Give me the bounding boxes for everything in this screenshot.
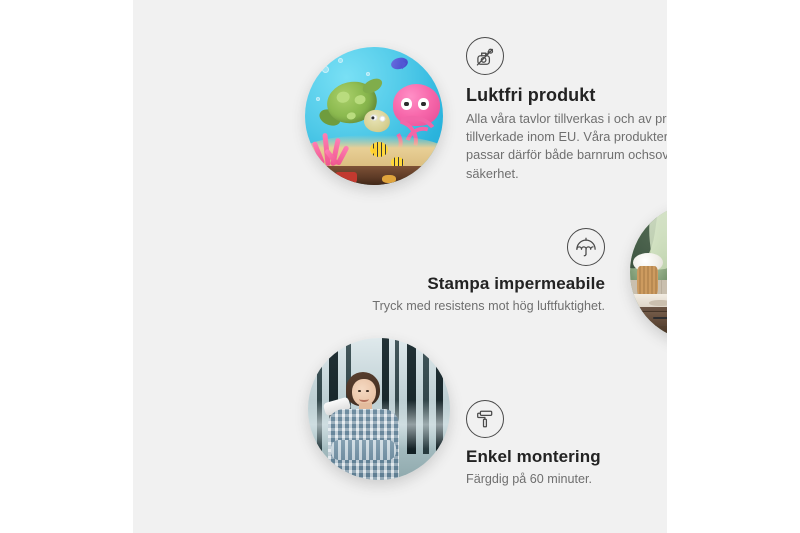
turtle-eye — [380, 118, 383, 121]
bubble-icon — [322, 66, 329, 73]
no-fragrance-spray-icon — [466, 37, 504, 75]
paint-roller-icon — [466, 400, 504, 438]
coral-reef — [313, 130, 352, 166]
product-feature-infographic: Luktfri produkt Alla våra tavlor tillver… — [0, 0, 800, 533]
feature-description: Alla våra tavlor tillverkas i och av pro… — [466, 110, 667, 184]
feature-title: Stampa impermeabile — [333, 273, 605, 294]
painter-scene — [308, 338, 450, 480]
feature-title: Luktfri produkt — [466, 84, 667, 107]
person-crossed-arms — [331, 440, 396, 460]
feature-description: Tryck med resistens mot hög luftfuktighe… — [333, 297, 605, 315]
image-bathroom-tropical-wallpaper — [630, 203, 667, 341]
image-painter-forest-wallpaper — [308, 338, 450, 480]
vanity-drawer — [636, 311, 667, 325]
umbrella-icon — [567, 228, 605, 266]
sea-bed-band — [305, 166, 443, 185]
bubble-icon — [316, 97, 320, 101]
person-eye — [358, 390, 361, 392]
person-smile — [359, 396, 369, 402]
turtle-eye — [372, 116, 375, 119]
ocean-scene — [305, 47, 443, 185]
image-ocean-kids-mural — [305, 47, 443, 185]
person-eye — [366, 390, 369, 392]
wooden-vanity-cabinet — [630, 307, 667, 342]
feature-easy-mounting: Enkel montering Färgdig på 60 minuter. — [466, 400, 667, 488]
feature-odor-free: Luktfri produkt Alla våra tavlor tillver… — [466, 37, 667, 183]
content-panel: Luktfri produkt Alla våra tavlor tillver… — [133, 0, 667, 533]
bathroom-scene — [630, 203, 667, 341]
octopus-eye — [418, 98, 429, 110]
feature-description: Färgdig på 60 minuter. — [466, 470, 667, 488]
bubble-icon — [366, 72, 370, 76]
feature-title: Enkel montering — [466, 446, 667, 467]
octopus-eye — [401, 98, 412, 110]
feature-waterproof-print: Stampa impermeabile Tryck med resistens … — [333, 228, 605, 315]
